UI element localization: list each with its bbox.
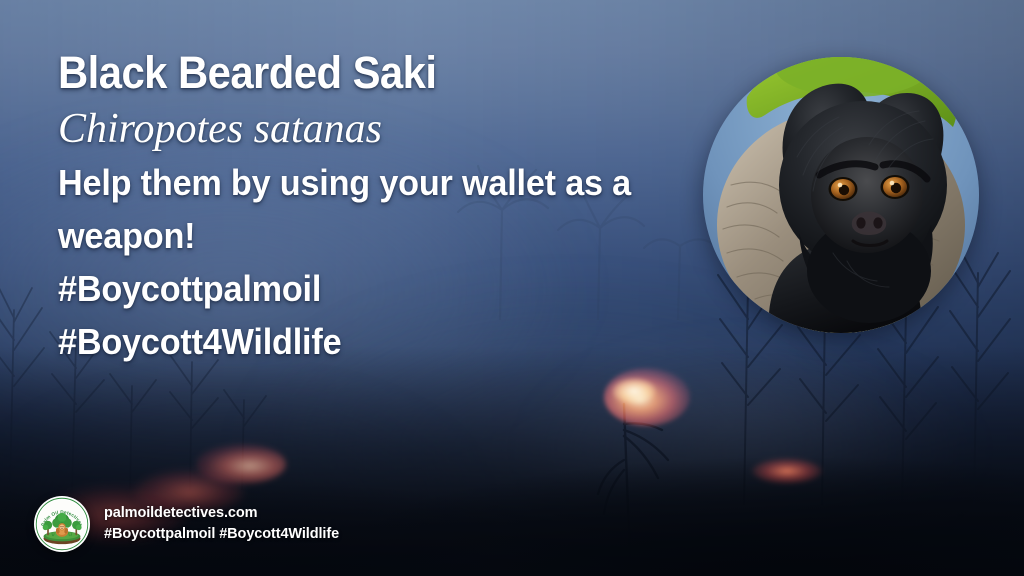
species-scientific-name: Chiropotes satanas (58, 104, 758, 154)
message-line-2: weapon! (58, 209, 752, 262)
footer-branding: Palm Oil Detectives palmoildetectives.co… (34, 496, 339, 552)
footer-text-block: palmoildetectives.com #Boycottpalmoil #B… (104, 504, 339, 544)
hashtag-boycott4wildlife: #Boycott4Wildlife (58, 315, 752, 368)
page-title: Black Bearded Saki (58, 48, 709, 98)
logo-badge-icon: Palm Oil Detectives palmoildetectives.co… (34, 496, 90, 552)
copy-block: Black Bearded Saki Chiropotes satanas He… (58, 48, 758, 368)
footer-website[interactable]: palmoildetectives.com (104, 504, 339, 523)
poster-canvas: Black Bearded Saki Chiropotes satanas He… (0, 0, 1024, 576)
saki-monkey-illustration (703, 57, 979, 333)
hashtag-boycottpalmoil: #Boycottpalmoil (58, 262, 752, 315)
footer-hashtags: #Boycottpalmoil #Boycott4Wildlife (104, 525, 339, 544)
message-line-1: Help them by using your wallet as a (58, 156, 752, 209)
black-bearded-saki-photo (703, 57, 979, 333)
palm-oil-detectives-logo[interactable]: Palm Oil Detectives palmoildetectives.co… (34, 496, 90, 552)
call-to-action-message: Help them by using your wallet as a weap… (58, 156, 752, 368)
